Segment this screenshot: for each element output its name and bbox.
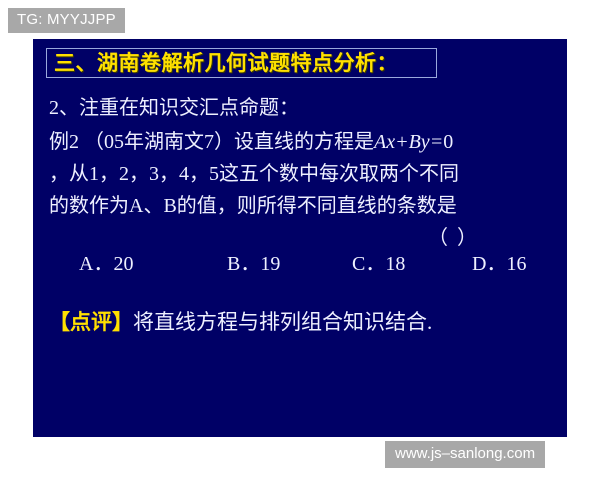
question-line-1-prefix: 例2 （05年湖南文7）设直线的方程是	[49, 131, 374, 153]
equation-term-by: By	[409, 131, 430, 153]
equation-term-zero: 0	[443, 131, 453, 153]
watermark-label: www.js–sanlong.com	[385, 441, 545, 468]
equation-term-ax: Ax	[374, 131, 395, 153]
question-line-3: 的数作为A、B的值，则所得不同直线的条数是	[49, 193, 457, 219]
equation-operator-equals: =	[430, 131, 444, 153]
screenshot-root: TG: MYYJJPP 三、湖南卷解析几何试题特点分析： 2、注重在知识交汇点命…	[0, 0, 600, 480]
comment-line: 【点评】将直线方程与排列组合知识结合.	[49, 309, 432, 336]
slide-title-box: 三、湖南卷解析几何试题特点分析：	[46, 48, 437, 78]
slide-title-text: 三、湖南卷解析几何试题特点分析：	[54, 51, 398, 75]
equation-operator-plus: +	[395, 131, 409, 153]
answer-option-b[interactable]: B．19	[227, 251, 352, 277]
answer-option-c[interactable]: C．18	[352, 251, 472, 277]
answer-option-a[interactable]: A．20	[79, 251, 227, 277]
presentation-slide: 三、湖南卷解析几何试题特点分析： 2、注重在知识交汇点命题： 例2 （05年湖南…	[33, 39, 567, 437]
question-line-2: ，从1，2，3，4，5这五个数中每次取两个不同	[49, 161, 459, 187]
comment-body-text: 将直线方程与排列组合知识结合.	[133, 310, 432, 334]
answer-option-d[interactable]: D．16	[472, 251, 532, 277]
comment-tag-label: 【点评】	[49, 310, 133, 334]
question-line-1: 例2 （05年湖南文7）设直线的方程是Ax+By=0	[49, 129, 453, 155]
answer-blank-parentheses: （ ）	[428, 225, 479, 251]
slide-subheading: 2、注重在知识交汇点命题：	[49, 95, 299, 121]
answer-options-row: A．20 B．19 C．18 D．16	[79, 251, 534, 277]
tg-tag-label: TG: MYYJJPP	[8, 8, 125, 33]
